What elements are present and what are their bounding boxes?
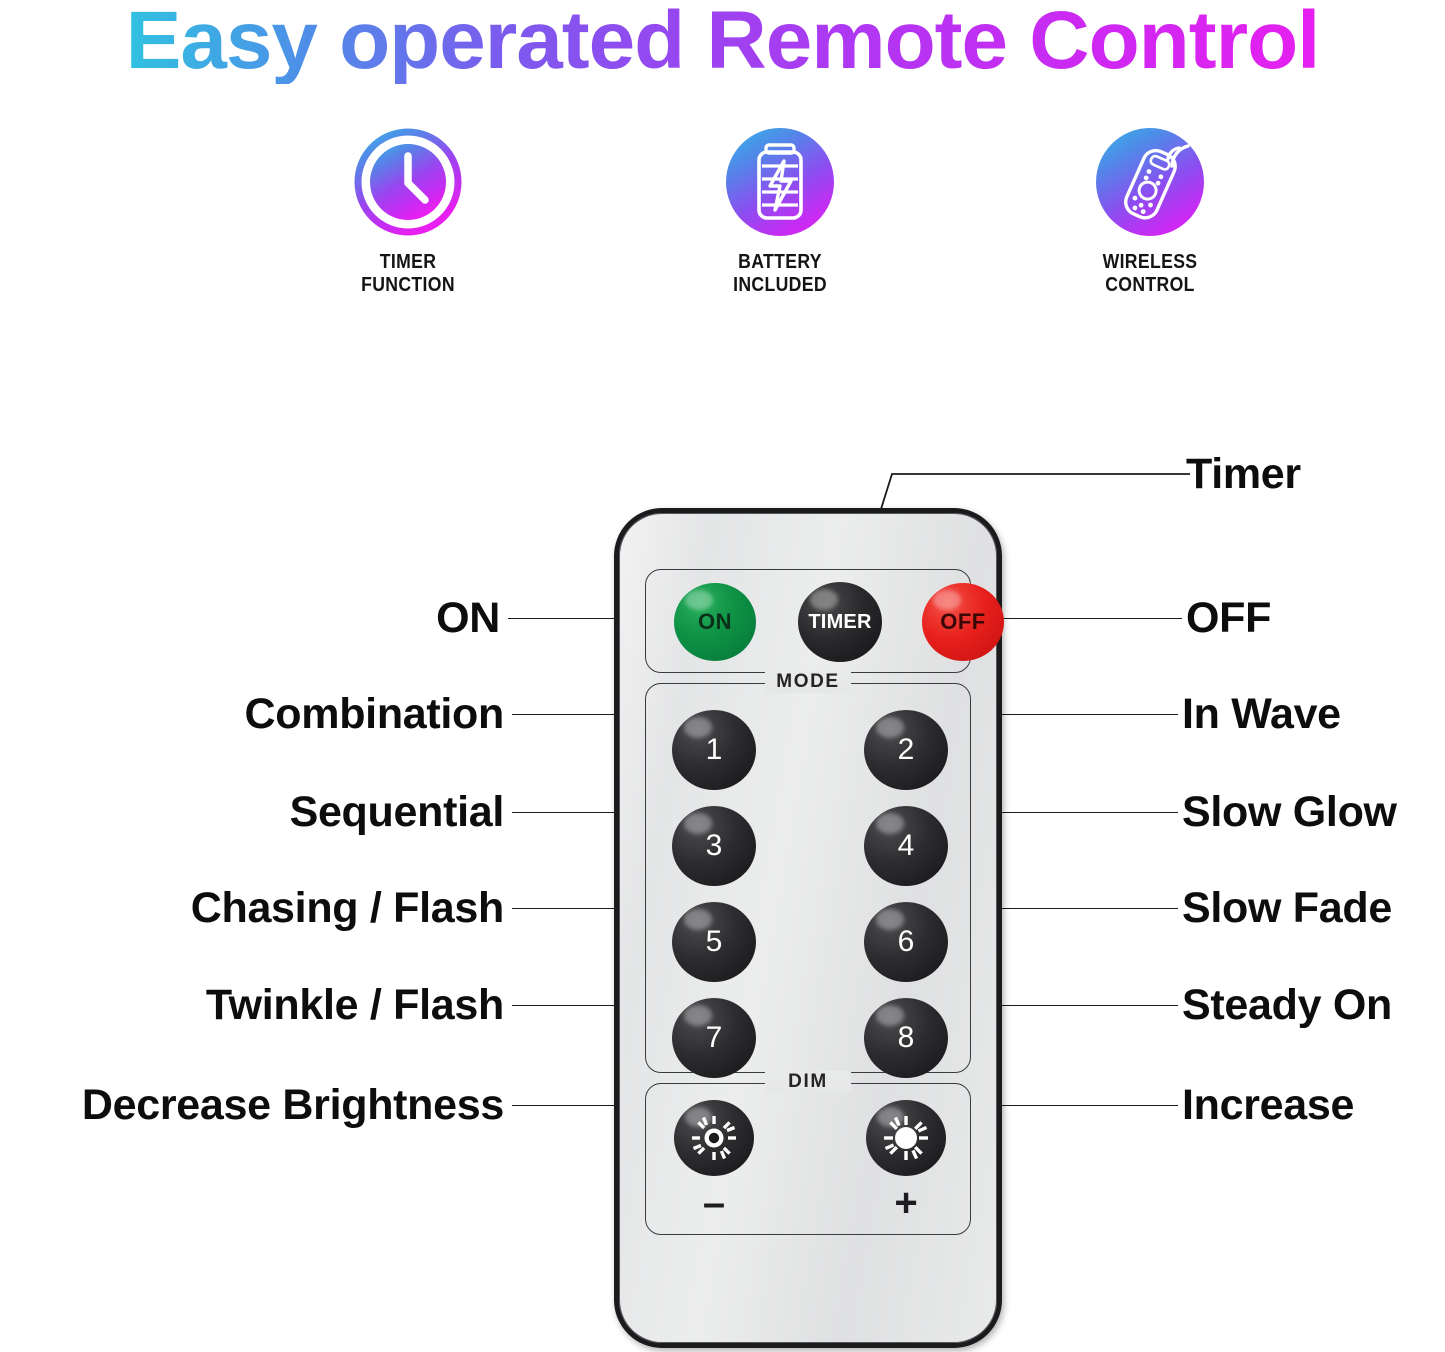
- callout-label: Slow Glow: [1182, 788, 1397, 836]
- power-panel: ON TIMER OFF: [645, 569, 971, 673]
- callout-label: In Wave: [1182, 690, 1341, 738]
- dim-increase-button[interactable]: [866, 1100, 946, 1176]
- remote-control-device: ON TIMER OFF MODE 1 2 3 4 5 6 7 8 DIM: [614, 508, 1002, 1348]
- dim-caption: DIM: [765, 1071, 851, 1093]
- mode-button-5[interactable]: 5: [672, 902, 756, 982]
- mode-button-4[interactable]: 4: [864, 806, 948, 886]
- dim-panel: DIM: [645, 1083, 971, 1235]
- mode-panel: MODE 1 2 3 4 5 6 7 8: [645, 683, 971, 1073]
- battery-bolt-icon: [726, 128, 834, 236]
- dim-plus-symbol: +: [866, 1186, 946, 1220]
- callout-label: Chasing / Flash: [191, 884, 504, 932]
- feature-label: WIRELESS CONTROL: [1021, 250, 1279, 296]
- dim-minus-symbol: –: [674, 1186, 754, 1220]
- callout-label: Twinkle / Flash: [206, 981, 504, 1029]
- on-button[interactable]: ON: [674, 583, 756, 661]
- callout-label: ON: [436, 594, 500, 642]
- mode-caption: MODE: [765, 671, 851, 693]
- dim-decrease-button[interactable]: [674, 1100, 754, 1176]
- page-title: Easy operated Remote Control: [0, 0, 1445, 84]
- callout-label: Combination: [245, 690, 504, 738]
- callout-label: Decrease Brightness: [82, 1081, 504, 1129]
- feature-label: BATTERY INCLUDED: [651, 250, 909, 296]
- callout-label: OFF: [1186, 594, 1271, 642]
- clock-icon: [354, 128, 462, 236]
- infographic-page: Easy operated Remote Control: [0, 0, 1445, 1352]
- mode-button-7[interactable]: 7: [672, 998, 756, 1078]
- remote-signal-icon: [1096, 128, 1204, 236]
- off-button[interactable]: OFF: [922, 583, 1004, 661]
- callout-label: Slow Fade: [1182, 884, 1392, 932]
- mode-button-3[interactable]: 3: [672, 806, 756, 886]
- mode-button-6[interactable]: 6: [864, 902, 948, 982]
- feature-wireless-control: WIRELESS CONTROL: [1000, 128, 1300, 296]
- feature-label: TIMER FUNCTION: [279, 250, 537, 296]
- mode-button-2[interactable]: 2: [864, 710, 948, 790]
- timer-button[interactable]: TIMER: [798, 582, 882, 662]
- brightness-up-icon: [880, 1112, 932, 1164]
- feature-timer-function: TIMER FUNCTION: [258, 128, 558, 296]
- feature-badge-row: TIMER FUNCTION BATTERY INCLUDED: [0, 128, 1445, 308]
- callout-label: Increase: [1182, 1081, 1354, 1129]
- brightness-down-icon: [688, 1112, 740, 1164]
- feature-battery-included: BATTERY INCLUDED: [630, 128, 930, 296]
- callout-label: Timer: [1186, 450, 1301, 498]
- callout-label: Steady On: [1182, 981, 1392, 1029]
- mode-button-8[interactable]: 8: [864, 998, 948, 1078]
- mode-button-1[interactable]: 1: [672, 710, 756, 790]
- callout-label: Sequential: [290, 788, 504, 836]
